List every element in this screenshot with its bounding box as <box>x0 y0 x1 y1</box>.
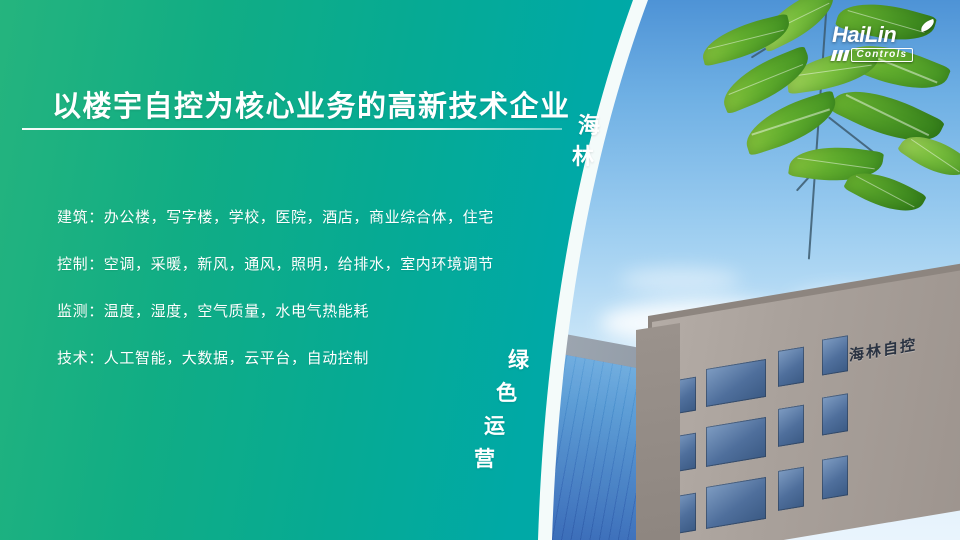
page-title: 以楼宇自控为核心业务的高新技术企业 <box>52 83 571 125</box>
bullet-list: 建筑：办公楼，写字楼，学校，医院，酒店，商业综合体，住宅 控制：空调，采暖，新风… <box>57 210 494 398</box>
slide-canvas: 海林自控 HaiLin Controls 以楼宇自控为核心业务的高新技术企业 <box>0 0 960 540</box>
bars-icon <box>832 50 848 61</box>
cloud-shape <box>620 268 740 292</box>
list-item: 建筑：办公楼，写字楼，学校，医院，酒店，商业综合体，住宅 <box>57 210 494 225</box>
logo-subtitle-group: Controls <box>832 48 913 62</box>
vertical-char: 海 <box>578 110 600 141</box>
vertical-char: 营 <box>474 443 529 476</box>
vertical-char: 运 <box>484 410 529 443</box>
building-core-column <box>636 323 680 540</box>
list-item: 监测：温度，湿度，空气质量，水电气热能耗 <box>57 304 494 319</box>
vertical-char: 色 <box>496 377 529 410</box>
list-item: 技术：人工智能，大数据，云平台，自动控制 <box>57 351 494 366</box>
vertical-slogan-text: 绿 色 运 营 <box>474 344 529 476</box>
hailin-logo[interactable]: HaiLin Controls <box>832 24 944 64</box>
logo-subtitle: Controls <box>851 48 914 62</box>
vertical-char: 林 <box>572 141 600 172</box>
vertical-brand-text: 海 林 <box>578 110 600 172</box>
vertical-char: 绿 <box>508 344 529 377</box>
list-item: 控制：空调，采暖，新风，通风，照明，给排水，室内环境调节 <box>57 257 494 272</box>
title-divider <box>22 128 562 130</box>
